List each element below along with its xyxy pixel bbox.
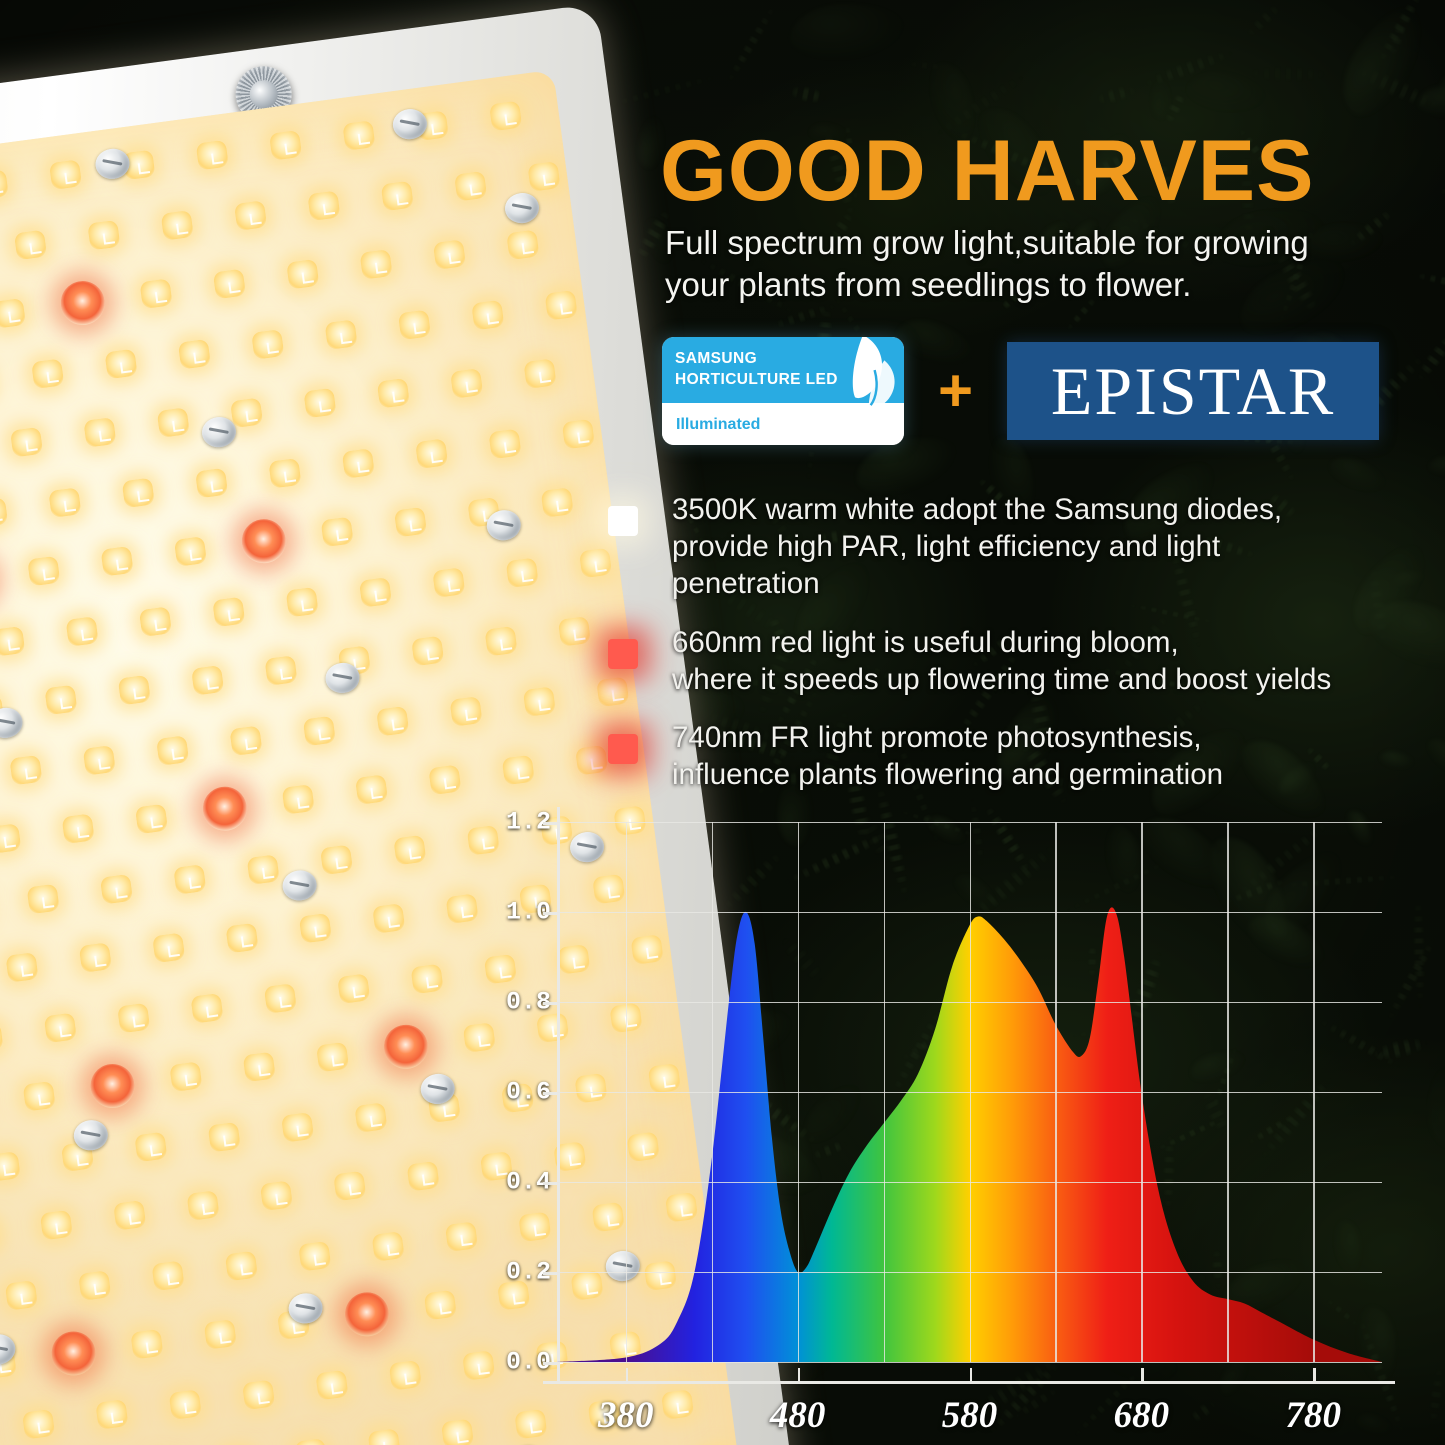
warm-white-led-diode: [139, 606, 172, 637]
warm-white-led-diode: [44, 1012, 77, 1043]
warm-white-led-diode: [62, 813, 95, 844]
warm-white-led-diode: [104, 349, 137, 380]
x-axis-tick: [798, 1368, 801, 1384]
subtitle: Full spectrum grow light,suitable for gr…: [665, 222, 1425, 306]
warm-white-led-diode: [286, 587, 319, 618]
warm-white-led-diode: [307, 190, 340, 221]
spectrum-chart: 0.00.20.40.60.81.01.2 380480580680780: [487, 805, 1445, 1405]
y-axis-tick: [543, 1092, 557, 1095]
plus-separator: +: [938, 361, 973, 421]
warm-white-led-diode: [264, 655, 297, 686]
warm-white-led-diode: [333, 1171, 366, 1202]
warm-white-led-diode: [424, 1290, 457, 1321]
y-axis-labels: 0.00.20.40.60.81.01.2: [487, 805, 551, 1405]
warm-white-led-diode: [225, 923, 258, 954]
warm-white-led-diode: [299, 913, 332, 944]
y-axis-tick: [543, 1362, 557, 1365]
warm-white-led-diode: [303, 716, 336, 747]
list-item: 3500K warm white adopt the Samsung diode…: [600, 492, 1445, 603]
warm-white-led-diode: [264, 983, 297, 1014]
warm-white-led-diode: [523, 686, 556, 717]
warm-white-led-diode: [316, 1042, 349, 1073]
warm-white-led-diode: [393, 835, 426, 866]
grid-line-vertical: [970, 822, 971, 1362]
warm-white-led-diode: [428, 764, 461, 795]
warm-white-led-diode: [488, 429, 521, 460]
warm-white-led-diode: [445, 1221, 478, 1252]
grid-line-vertical: [1313, 822, 1314, 1362]
leaf-icon: [820, 337, 898, 417]
warm-white-led-diode: [83, 417, 116, 448]
warm-white-led-diode: [389, 1360, 422, 1391]
warm-white-led-diode: [5, 952, 38, 983]
warm-white-led-diode: [371, 1231, 404, 1262]
warm-white-led-diode: [506, 557, 539, 588]
leaf-blob: [1428, 455, 1445, 479]
subtitle-line-2: your plants from seedlings to flower.: [665, 264, 1425, 306]
warm-white-led-diode: [320, 844, 353, 875]
warm-white-led-diode: [139, 278, 172, 309]
grid-line-vertical: [1141, 822, 1142, 1362]
warm-white-led-diode: [65, 616, 98, 647]
warm-white-led-diode: [243, 1052, 276, 1083]
warm-white-led-diode: [134, 1132, 167, 1163]
warm-white-led-diode: [204, 1319, 237, 1350]
warm-white-led-diode: [324, 319, 357, 350]
feature-text: 3500K warm white adopt the Samsung diode…: [672, 492, 1445, 603]
warm-white-led-diode: [286, 259, 319, 290]
far-red-led-marker-icon: [608, 734, 638, 764]
warm-white-led-diode: [247, 854, 280, 885]
warm-white-led-diode: [87, 220, 120, 251]
warm-white-led-diode: [489, 101, 522, 132]
feature-text: 660nm red light is useful during bloom, …: [672, 625, 1445, 699]
warm-white-led-diode: [44, 685, 77, 716]
warm-white-led-diode: [359, 577, 392, 608]
warm-white-led-diode: [484, 626, 517, 657]
warm-white-led-diode: [213, 269, 246, 300]
warm-white-led-diode: [541, 487, 574, 518]
warm-white-led-diode: [342, 120, 375, 151]
warm-white-led-diode: [190, 993, 223, 1024]
warm-white-led-diode: [355, 774, 388, 805]
x-axis-tick: [970, 1368, 973, 1384]
warm-white-led-diode: [381, 181, 414, 212]
warm-white-led-diode: [48, 487, 81, 518]
epistar-logo: EPISTAR: [1007, 342, 1379, 440]
warm-white-led-diode: [506, 229, 539, 260]
warm-white-led-diode: [14, 230, 47, 261]
feature-line: provide high PAR, light efficiency and l…: [672, 529, 1445, 566]
warm-white-led-diode: [281, 1112, 314, 1143]
warm-white-led-diode: [95, 1399, 128, 1430]
grid-line-vertical: [798, 822, 799, 1362]
warm-white-led-diode: [321, 517, 354, 548]
warm-white-led-diode: [22, 1409, 55, 1440]
warm-white-led-diode: [268, 458, 301, 489]
warm-white-led-diode: [10, 427, 43, 458]
warm-white-led-diode: [151, 1260, 184, 1291]
grid-line-vertical: [1227, 822, 1228, 1362]
warm-white-led-diode: [100, 874, 133, 905]
warm-white-led-diode: [186, 1190, 219, 1221]
warm-white-led-diode: [449, 696, 482, 727]
warm-white-led-diode: [527, 161, 560, 192]
feature-line: where it speeds up flowering time and bo…: [672, 662, 1445, 699]
warm-white-led-diode: [23, 1081, 56, 1112]
list-item: 740nm FR light promote photosynthesis, i…: [600, 720, 1445, 794]
warm-white-led-diode: [229, 725, 262, 756]
warm-white-led-diode: [135, 804, 168, 835]
epistar-logo-text: EPISTAR: [1051, 357, 1335, 425]
warm-white-led-diode: [208, 1122, 241, 1153]
warm-white-led-diode: [191, 665, 224, 696]
warm-white-led-diode: [411, 636, 444, 667]
warm-white-led-diode: [152, 932, 185, 963]
leaf-blob: [790, 4, 907, 63]
chart-plot-area: [557, 822, 1382, 1362]
warm-white-led-diode: [471, 300, 504, 331]
warm-white-led-diode: [27, 556, 60, 587]
warm-white-led-diode: [432, 567, 465, 598]
warm-white-led-diode: [242, 1379, 275, 1410]
feature-list: 3500K warm white adopt the Samsung diode…: [600, 492, 1445, 816]
warm-white-led-diode: [502, 755, 535, 786]
warm-white-led-diode: [558, 616, 591, 647]
warm-white-led-diode: [376, 706, 409, 737]
warm-white-led-diode: [545, 290, 578, 321]
grid-line-horizontal: [557, 1362, 1382, 1363]
warm-white-led-diode: [49, 159, 82, 190]
warm-white-led-diode: [174, 536, 207, 567]
warm-white-led-diode: [269, 130, 302, 161]
warm-white-led-diode: [441, 1419, 474, 1445]
samsung-product-line: HORTICULTURE LED: [675, 369, 838, 390]
grid-line-vertical: [712, 822, 713, 1362]
warm-white-led-diode: [196, 140, 229, 171]
list-item: 660nm red light is useful during bloom, …: [600, 625, 1445, 699]
warm-white-led-diode: [377, 378, 410, 409]
red-led-marker-icon: [608, 639, 638, 669]
warm-white-led-diode: [454, 171, 487, 202]
warm-white-led-diode: [433, 239, 466, 270]
feature-line: 660nm red light is useful during bloom,: [672, 625, 1445, 662]
warm-white-led-diode: [178, 339, 211, 370]
warm-white-led-diode: [337, 973, 370, 1004]
warm-white-led-diode: [303, 388, 336, 419]
warm-white-led-diode: [234, 200, 267, 231]
warm-white-led-diode: [117, 1003, 150, 1034]
warm-white-led-diode: [156, 735, 189, 766]
warm-white-led-diode: [260, 1180, 293, 1211]
x-axis-tick-label: 380: [598, 1394, 654, 1437]
x-axis-tick-label: 480: [770, 1394, 826, 1437]
warm-white-led-diode: [169, 1061, 202, 1092]
feature-text: 740nm FR light promote photosynthesis, i…: [672, 720, 1445, 794]
grid-line-vertical: [1055, 822, 1056, 1362]
warm-white-led-diode: [394, 507, 427, 538]
warm-white-led-diode: [122, 477, 155, 508]
samsung-illuminated-caption: Illuminated: [676, 416, 760, 434]
warm-white-led-diode: [523, 358, 556, 389]
warm-white-led-diode: [354, 1102, 387, 1133]
warm-white-led-diode: [195, 468, 228, 499]
warm-white-led-diode: [406, 1161, 439, 1192]
warm-white-led-diode: [100, 546, 133, 577]
warm-white-led-diode: [83, 745, 116, 776]
warm-white-led-diode: [398, 309, 431, 340]
warm-white-led-diode: [282, 784, 315, 815]
feature-line: influence plants flowering and germinati…: [672, 757, 1445, 794]
y-axis-tick: [543, 1182, 557, 1185]
warm-white-led-diode: [118, 675, 151, 706]
warm-white-led-diode: [113, 1200, 146, 1231]
warm-white-led-diode: [212, 597, 245, 628]
grid-line-vertical: [884, 822, 885, 1362]
product-infographic: GOOD HARVES Full spectrum grow light,sui…: [0, 0, 1445, 1445]
warm-white-led-diode: [372, 903, 405, 934]
feature-line: 3500K warm white adopt the Samsung diode…: [672, 492, 1445, 529]
warm-white-led-diode: [169, 1389, 202, 1420]
warm-white-led-diode: [415, 438, 448, 469]
warm-white-led-diode: [562, 419, 595, 450]
x-axis-tick: [626, 1368, 629, 1384]
y-axis-tick: [543, 1272, 557, 1275]
samsung-badge-text: SAMSUNG HORTICULTURE LED: [675, 348, 838, 391]
warm-white-led-diode: [79, 942, 112, 973]
x-axis-tick-label: 680: [1114, 1394, 1170, 1437]
warm-white-led-diode: [342, 448, 375, 479]
warm-white-led-diode: [27, 884, 60, 915]
warm-white-led-diode: [5, 1280, 38, 1311]
white-led-marker-icon: [608, 506, 638, 536]
warm-white-led-diode: [251, 329, 284, 360]
warm-white-led-diode: [130, 1329, 163, 1360]
warm-white-led-diode: [315, 1370, 348, 1401]
samsung-brand-line: SAMSUNG: [675, 348, 838, 369]
warm-white-led-diode: [31, 358, 64, 389]
warm-white-led-diode: [450, 368, 483, 399]
subtitle-line-1: Full spectrum grow light,suitable for gr…: [665, 222, 1425, 264]
warm-white-led-diode: [9, 755, 42, 786]
warm-white-led-diode: [157, 407, 190, 438]
warm-white-led-diode: [445, 893, 478, 924]
warm-white-led-diode: [40, 1210, 73, 1241]
warm-white-led-diode: [230, 397, 263, 428]
y-axis-tick: [543, 1002, 557, 1005]
y-axis-tick: [543, 912, 557, 915]
fern-frond: [779, 77, 836, 110]
warm-white-led-diode: [78, 1270, 111, 1301]
warm-white-led-diode: [225, 1251, 258, 1282]
x-axis-tick: [1141, 1368, 1144, 1384]
brand-logo-row: SAMSUNG HORTICULTURE LED Illuminated + E…: [662, 336, 1379, 446]
warm-white-led-diode: [359, 249, 392, 280]
grid-line-vertical: [626, 822, 627, 1362]
warm-white-led-diode: [161, 210, 194, 241]
warm-white-led-diode: [173, 864, 206, 895]
warm-white-led-diode: [298, 1241, 331, 1272]
warm-white-led-diode: [514, 1409, 547, 1440]
samsung-horticulture-led-logo: SAMSUNG HORTICULTURE LED Illuminated: [662, 337, 904, 445]
y-axis-tick: [543, 822, 557, 825]
page-title: GOOD HARVES: [660, 128, 1445, 214]
x-axis-tick-label: 780: [1286, 1394, 1342, 1437]
warm-white-led-diode: [410, 964, 443, 995]
x-axis-tick-label: 580: [942, 1394, 998, 1437]
x-axis-tick: [1313, 1368, 1316, 1384]
feature-line: penetration: [672, 566, 1445, 603]
feature-line: 740nm FR light promote photosynthesis,: [672, 720, 1445, 757]
